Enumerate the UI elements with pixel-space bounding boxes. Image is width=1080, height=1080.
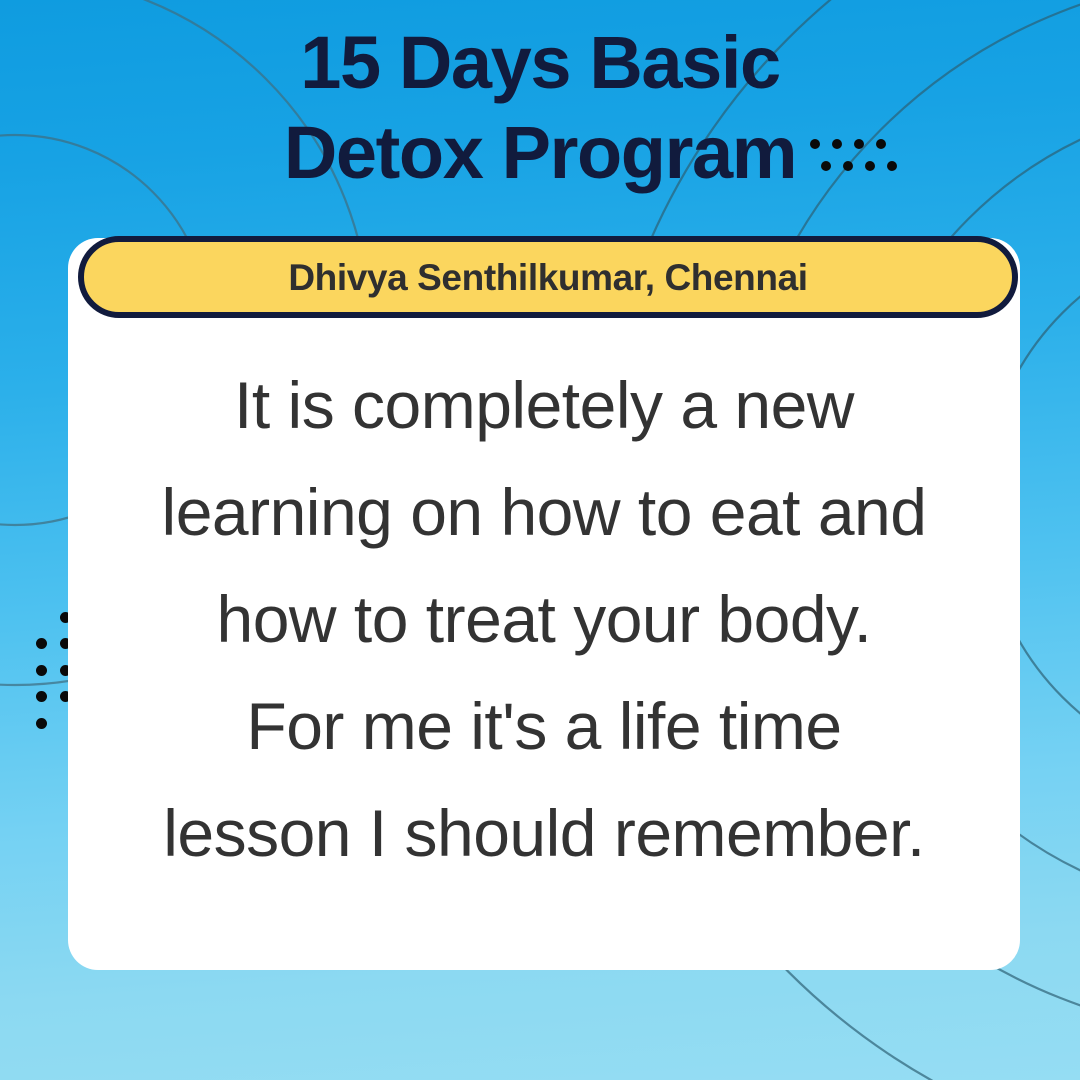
testimonial-poster: 15 Days Basic Detox Program bbox=[0, 0, 1080, 1080]
quote-line: For me it's a life time bbox=[82, 673, 1006, 780]
quote-line: lesson I should remember. bbox=[82, 780, 1006, 887]
poster-title: 15 Days Basic Detox Program bbox=[0, 18, 1080, 198]
dot-grid-title-icon bbox=[810, 139, 906, 175]
author-pill: Dhivya Senthilkumar, Chennai bbox=[78, 236, 1018, 318]
title-line-2-wrapper: Detox Program bbox=[284, 108, 796, 198]
quote-line: how to treat your body. bbox=[82, 566, 1006, 673]
quote-line: It is completely a new bbox=[82, 352, 1006, 459]
title-line-2: Detox Program bbox=[284, 108, 796, 198]
title-line-1: 15 Days Basic bbox=[0, 18, 1080, 108]
quote-line: learning on how to eat and bbox=[82, 459, 1006, 566]
author-name-label: Dhivya Senthilkumar, Chennai bbox=[288, 259, 807, 296]
testimonial-quote: It is completely a new learning on how t… bbox=[68, 352, 1020, 887]
